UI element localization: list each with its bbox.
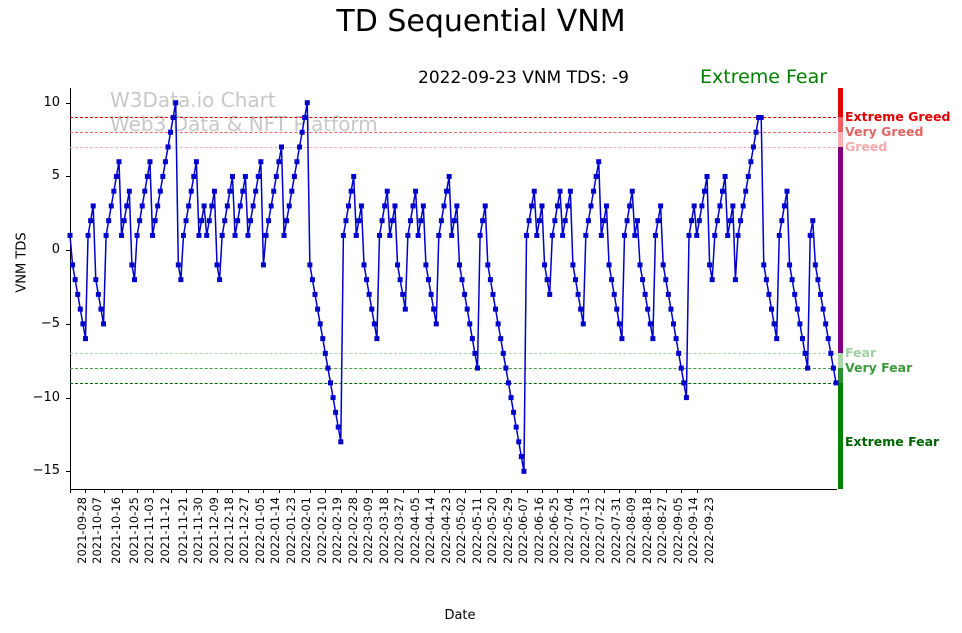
tds-marker [382, 203, 387, 208]
tds-marker [145, 174, 150, 179]
tds-marker [111, 189, 116, 194]
tds-marker [743, 189, 748, 194]
tds-marker [681, 380, 686, 385]
tds-marker [534, 233, 539, 238]
tds-marker [454, 203, 459, 208]
tds-marker [483, 203, 488, 208]
tds-marker [271, 189, 276, 194]
tds-marker [416, 233, 421, 238]
tds-marker [617, 321, 622, 326]
tds-marker [302, 115, 307, 120]
tds-marker [576, 292, 581, 297]
tds-marker [119, 233, 124, 238]
tds-marker [751, 144, 756, 149]
tds-marker [831, 366, 836, 371]
tds-marker [447, 174, 452, 179]
tds-marker [632, 233, 637, 238]
tds-marker [648, 321, 653, 326]
tds-series-plot [0, 0, 962, 633]
tds-marker [656, 218, 661, 223]
tds-marker [625, 218, 630, 223]
tds-marker [527, 218, 532, 223]
tds-marker [637, 262, 642, 267]
tds-marker [578, 307, 583, 312]
tds-marker [411, 203, 416, 208]
tds-marker [635, 218, 640, 223]
tds-marker [70, 262, 75, 267]
tds-marker [359, 203, 364, 208]
tds-marker [91, 203, 96, 208]
tds-marker [730, 203, 735, 208]
tds-marker [127, 189, 132, 194]
tds-marker [769, 307, 774, 312]
tds-marker [478, 233, 483, 238]
tds-marker [106, 218, 111, 223]
tds-marker [679, 366, 684, 371]
tds-marker [279, 144, 284, 149]
tds-marker [372, 321, 377, 326]
tds-marker [475, 366, 480, 371]
tds-marker [524, 233, 529, 238]
tds-marker [705, 174, 710, 179]
tds-marker [307, 262, 312, 267]
tds-marker [622, 233, 627, 238]
tds-marker [434, 321, 439, 326]
tds-marker [560, 233, 565, 238]
tds-marker [720, 189, 725, 194]
tds-marker [235, 218, 240, 223]
tds-marker [362, 262, 367, 267]
tds-marker [558, 189, 563, 194]
tds-marker [828, 351, 833, 356]
tds-marker [245, 233, 250, 238]
tds-marker [349, 189, 354, 194]
tds-marker [333, 410, 338, 415]
tds-marker [124, 203, 129, 208]
tds-marker [772, 321, 777, 326]
tds-marker [132, 277, 137, 282]
tds-marker [619, 336, 624, 341]
tds-marker [421, 203, 426, 208]
tds-marker [586, 218, 591, 223]
tds-marker [707, 262, 712, 267]
tds-marker [403, 307, 408, 312]
tds-marker [343, 218, 348, 223]
tds-marker [261, 262, 266, 267]
tds-marker [222, 218, 227, 223]
tds-marker [532, 189, 537, 194]
tds-marker [325, 366, 330, 371]
tds-marker [457, 262, 462, 267]
tds-marker [248, 218, 253, 223]
tds-marker [80, 321, 85, 326]
tds-marker [529, 203, 534, 208]
tds-marker [98, 307, 103, 312]
tds-marker [276, 159, 281, 164]
tds-marker [748, 159, 753, 164]
tds-marker [320, 336, 325, 341]
tds-marker [573, 277, 578, 282]
tds-marker [754, 130, 759, 135]
tds-marker [109, 203, 114, 208]
tds-marker [328, 380, 333, 385]
tds-marker [282, 233, 287, 238]
tds-marker [452, 218, 457, 223]
tds-marker [645, 307, 650, 312]
tds-marker [545, 277, 550, 282]
tds-marker [614, 307, 619, 312]
tds-marker [153, 218, 158, 223]
tds-marker [570, 262, 575, 267]
tds-marker [795, 307, 800, 312]
tds-marker [217, 277, 222, 282]
tds-marker [818, 292, 823, 297]
tds-marker [555, 203, 560, 208]
tds-marker [418, 218, 423, 223]
tds-marker [565, 203, 570, 208]
tds-marker [823, 321, 828, 326]
tds-marker [331, 395, 336, 400]
tds-marker [204, 233, 209, 238]
tds-marker [423, 262, 428, 267]
tds-marker [395, 262, 400, 267]
tds-marker [604, 203, 609, 208]
tds-marker [581, 321, 586, 326]
tds-marker [364, 277, 369, 282]
tds-marker [746, 174, 751, 179]
tds-marker [797, 321, 802, 326]
tds-marker [313, 292, 318, 297]
tds-line [70, 103, 836, 472]
tds-marker [702, 189, 707, 194]
tds-marker [699, 203, 704, 208]
tds-marker [269, 203, 274, 208]
tds-marker [805, 366, 810, 371]
tds-marker [674, 336, 679, 341]
tds-marker [75, 292, 80, 297]
tds-marker [813, 262, 818, 267]
tds-marker [191, 174, 196, 179]
tds-marker [86, 233, 91, 238]
tds-marker [207, 218, 212, 223]
tds-marker [460, 277, 465, 282]
tds-marker [594, 174, 599, 179]
tds-marker [385, 189, 390, 194]
tds-marker [135, 233, 140, 238]
tds-marker [725, 233, 730, 238]
tds-marker [101, 321, 106, 326]
tds-marker [550, 233, 555, 238]
tds-marker [225, 203, 230, 208]
tds-marker [351, 174, 356, 179]
tds-marker [400, 292, 405, 297]
tds-marker [782, 203, 787, 208]
tds-marker [341, 233, 346, 238]
tds-marker [803, 351, 808, 356]
tds-marker [413, 189, 418, 194]
tds-marker [676, 351, 681, 356]
tds-marker [627, 203, 632, 208]
tds-marker [104, 233, 109, 238]
tds-marker [717, 203, 722, 208]
tds-marker [194, 159, 199, 164]
tds-marker [374, 336, 379, 341]
tds-marker [429, 292, 434, 297]
tds-marker [212, 189, 217, 194]
tds-marker [426, 277, 431, 282]
tds-marker [189, 189, 194, 194]
tds-marker [692, 203, 697, 208]
tds-marker [583, 233, 588, 238]
tds-marker [612, 292, 617, 297]
tds-marker [230, 174, 235, 179]
tds-marker [287, 203, 292, 208]
tds-marker [741, 203, 746, 208]
tds-marker [202, 203, 207, 208]
tds-marker [493, 307, 498, 312]
tds-marker [209, 203, 214, 208]
tds-marker [761, 262, 766, 267]
tds-marker [354, 233, 359, 238]
tds-marker [470, 336, 475, 341]
tds-marker [764, 277, 769, 282]
tds-marker [643, 292, 648, 297]
tds-marker [305, 100, 310, 105]
tds-marker [826, 336, 831, 341]
tds-marker [73, 277, 78, 282]
tds-marker [596, 159, 601, 164]
tds-marker [367, 292, 372, 297]
tds-marker [88, 218, 93, 223]
tds-marker [547, 292, 552, 297]
tds-marker [181, 233, 186, 238]
tds-marker [542, 262, 547, 267]
tds-marker [697, 218, 702, 223]
tds-marker [630, 189, 635, 194]
tds-marker [815, 277, 820, 282]
tds-marker [710, 277, 715, 282]
tds-marker [650, 336, 655, 341]
tds-marker [166, 144, 171, 149]
tds-marker [689, 218, 694, 223]
tds-marker [184, 218, 189, 223]
tds-marker [140, 203, 145, 208]
tds-marker [715, 218, 720, 223]
tds-marker [537, 218, 542, 223]
tds-marker [509, 395, 514, 400]
tds-marker [787, 262, 792, 267]
tds-marker [122, 218, 127, 223]
tds-marker [539, 203, 544, 208]
tds-marker [155, 203, 160, 208]
tds-marker [516, 439, 521, 444]
tds-marker [607, 262, 612, 267]
tds-marker [310, 277, 315, 282]
tds-marker [173, 100, 178, 105]
tds-marker [514, 425, 519, 430]
tds-marker [712, 233, 717, 238]
tds-marker [472, 351, 477, 356]
tds-marker [356, 218, 361, 223]
tds-marker [142, 189, 147, 194]
tds-marker [160, 174, 165, 179]
tds-marker [821, 307, 826, 312]
tds-marker [251, 203, 256, 208]
tds-marker [346, 203, 351, 208]
tds-marker [467, 321, 472, 326]
tds-marker [408, 218, 413, 223]
tds-marker [238, 203, 243, 208]
tds-marker [671, 321, 676, 326]
tds-marker [338, 439, 343, 444]
tds-marker [663, 277, 668, 282]
tds-marker [163, 159, 168, 164]
chart-figure: TD Sequential VNM 2022-09-23 VNM TDS: -9… [0, 0, 962, 633]
tds-marker [591, 189, 596, 194]
tds-marker [294, 159, 299, 164]
tds-marker [233, 233, 238, 238]
tds-marker [117, 159, 122, 164]
tds-marker [658, 203, 663, 208]
tds-marker [519, 454, 524, 459]
tds-marker [465, 307, 470, 312]
tds-marker [114, 174, 119, 179]
tds-marker [377, 233, 382, 238]
tds-marker [398, 277, 403, 282]
tds-marker [601, 218, 606, 223]
tds-marker [666, 292, 671, 297]
tds-marker [318, 321, 323, 326]
tds-marker [444, 189, 449, 194]
tds-marker [552, 218, 557, 223]
tds-marker [439, 218, 444, 223]
tds-marker [390, 218, 395, 223]
tds-marker [83, 336, 88, 341]
tds-marker [199, 218, 204, 223]
tds-marker [498, 336, 503, 341]
tds-marker [723, 174, 728, 179]
tds-marker [196, 233, 201, 238]
tds-marker [215, 262, 220, 267]
tds-marker [264, 233, 269, 238]
tds-marker [653, 233, 658, 238]
tds-marker [284, 218, 289, 223]
tds-marker [227, 189, 232, 194]
tds-marker [490, 292, 495, 297]
tds-marker [137, 218, 142, 223]
tds-marker [503, 366, 508, 371]
tds-marker [668, 307, 673, 312]
tds-marker [336, 425, 341, 430]
tds-marker [728, 218, 733, 223]
tds-marker [441, 203, 446, 208]
tds-marker [588, 203, 593, 208]
tds-marker [777, 233, 782, 238]
tds-marker [292, 174, 297, 179]
tds-marker [738, 218, 743, 223]
tds-marker [488, 277, 493, 282]
tds-marker [380, 218, 385, 223]
tds-marker [256, 174, 261, 179]
tds-marker [779, 218, 784, 223]
tds-marker [733, 277, 738, 282]
tds-marker [792, 292, 797, 297]
tds-marker [521, 469, 526, 474]
tds-marker [289, 189, 294, 194]
tds-marker [609, 277, 614, 282]
tds-marker [431, 307, 436, 312]
tds-marker [96, 292, 101, 297]
tds-marker [78, 307, 83, 312]
tds-marker [297, 144, 302, 149]
tds-marker [129, 262, 134, 267]
tds-marker [266, 218, 271, 223]
tds-marker [694, 233, 699, 238]
tds-marker [511, 410, 516, 415]
tds-marker [640, 277, 645, 282]
tds-marker [810, 218, 815, 223]
tds-marker [735, 233, 740, 238]
tds-marker [785, 189, 790, 194]
tds-marker [506, 380, 511, 385]
tds-marker [808, 233, 813, 238]
tds-marker [323, 351, 328, 356]
tds-marker [186, 203, 191, 208]
tds-marker [274, 174, 279, 179]
tds-marker [315, 307, 320, 312]
tds-marker [790, 277, 795, 282]
tds-marker [436, 233, 441, 238]
tds-marker [253, 189, 258, 194]
tds-marker [563, 218, 568, 223]
tds-marker [501, 351, 506, 356]
tds-marker [387, 233, 392, 238]
tds-marker [243, 174, 248, 179]
tds-marker [774, 336, 779, 341]
tds-marker [599, 233, 604, 238]
tds-marker [759, 115, 764, 120]
tds-marker [300, 130, 305, 135]
tds-marker [68, 233, 73, 238]
tds-marker [834, 380, 839, 385]
tds-marker [449, 233, 454, 238]
tds-marker [800, 336, 805, 341]
tds-marker [480, 218, 485, 223]
tds-marker [392, 203, 397, 208]
tds-marker [150, 233, 155, 238]
tds-marker [158, 189, 163, 194]
tds-marker [496, 321, 501, 326]
tds-marker [147, 159, 152, 164]
tds-marker [405, 233, 410, 238]
tds-marker [568, 189, 573, 194]
tds-marker [176, 262, 181, 267]
tds-marker [485, 262, 490, 267]
tds-marker [369, 307, 374, 312]
tds-marker [258, 159, 263, 164]
tds-marker [766, 292, 771, 297]
tds-marker [661, 262, 666, 267]
tds-marker [684, 395, 689, 400]
tds-marker [240, 189, 245, 194]
tds-marker [462, 292, 467, 297]
tds-marker [171, 115, 176, 120]
tds-marker [686, 233, 691, 238]
tds-marker [178, 277, 183, 282]
tds-marker [168, 130, 173, 135]
tds-marker [220, 233, 225, 238]
tds-marker [93, 277, 98, 282]
